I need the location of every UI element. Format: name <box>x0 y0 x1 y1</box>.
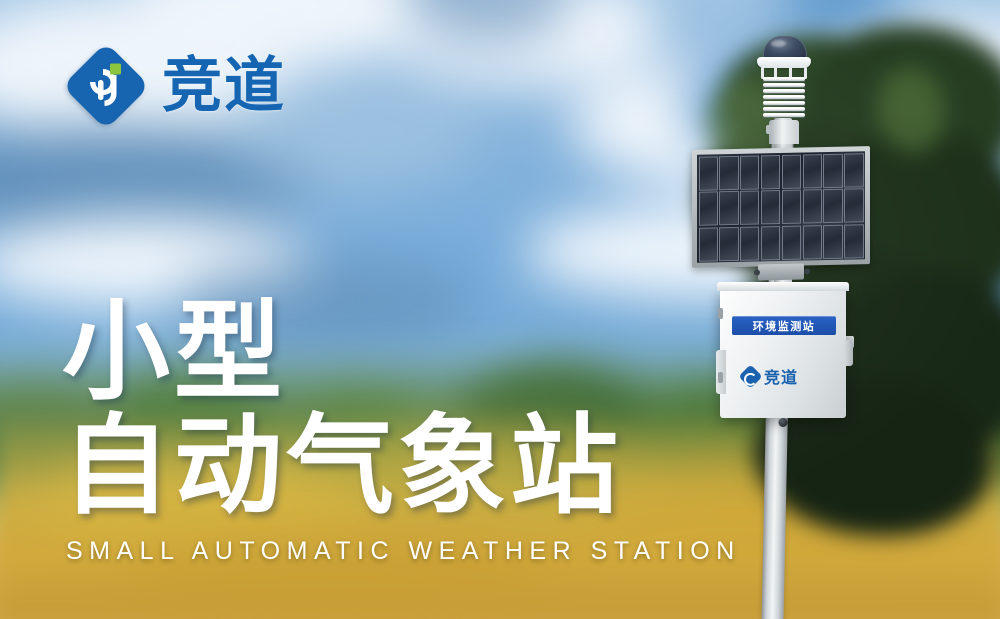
control-box-brand: 竞道 <box>742 364 798 388</box>
weather-station-product: 环境监测站 竞道 <box>660 0 920 619</box>
control-box-hinge <box>718 372 723 383</box>
control-box-brand-text: 竞道 <box>764 364 798 388</box>
ultrasonic-weather-sensor-icon <box>755 36 813 144</box>
solar-cell-grid <box>697 151 865 263</box>
panel-mount-bracket <box>758 264 804 281</box>
panel-bolt <box>804 268 810 274</box>
hero-title-line-1: 小型 <box>62 296 622 410</box>
product-hero-banner: 竞道 小型 自动气象站 SMALL AUTOMATIC WEATHER STAT… <box>0 0 1000 619</box>
control-box-banner-text: 环境监测站 <box>753 318 816 334</box>
control-box: 环境监测站 竞道 <box>720 288 846 418</box>
control-box-screw <box>779 418 788 427</box>
hero-subtitle: SMALL AUTOMATIC WEATHER STATION <box>66 537 741 566</box>
hero-headline: 小型 自动气象站 <box>62 296 622 525</box>
brand-logo: 竞道 <box>64 44 286 128</box>
control-box-hinge <box>718 308 723 319</box>
control-box-latch <box>844 340 853 366</box>
jingdao-diamond-logo-icon <box>64 44 148 128</box>
solar-panel-frame <box>692 146 870 268</box>
jingdao-mark-icon <box>738 364 762 388</box>
sensor-neck <box>769 120 799 144</box>
control-box-top <box>717 282 849 291</box>
radiation-shield <box>763 77 805 121</box>
control-box-banner: 环境监测站 <box>732 316 836 335</box>
hero-title-line-2: 自动气象站 <box>62 410 622 524</box>
solar-panel <box>692 146 870 268</box>
brand-name: 竞道 <box>162 56 286 116</box>
